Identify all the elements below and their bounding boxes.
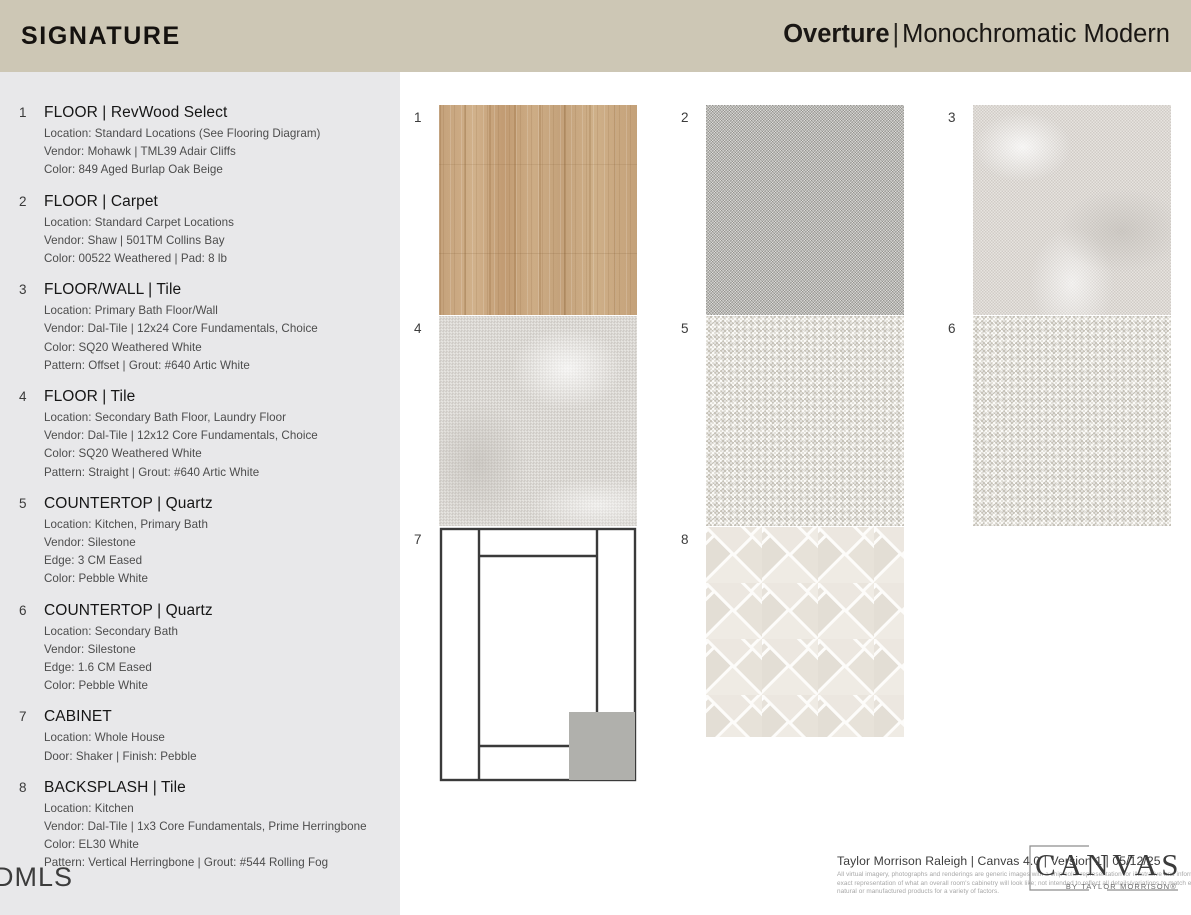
spec-detail-line: Location: Standard Locations (See Floori… <box>44 125 400 143</box>
swatch-number: 6 <box>948 321 956 336</box>
spec-detail-line: Edge: 1.6 CM Eased <box>44 659 400 677</box>
spec-detail-line: Location: Secondary Bath Floor, Laundry … <box>44 409 400 427</box>
logo-tagline: BY TAYLOR MORRISON® <box>1066 882 1177 891</box>
spec-detail-line: Color: SQ20 Weathered White <box>44 445 400 463</box>
spec-detail-line: Location: Standard Carpet Locations <box>44 214 400 232</box>
spec-list: 1 FLOOR | RevWood Select Location: Stand… <box>0 104 400 886</box>
spec-title: BACKSPLASH | Tile <box>44 779 400 797</box>
swatch-item-1: 1 <box>439 105 639 315</box>
spec-detail-line: Pattern: Straight | Grout: #640 Artic Wh… <box>44 464 400 482</box>
swatch-number: 1 <box>414 110 422 125</box>
spec-title: FLOOR | RevWood Select <box>44 104 400 122</box>
swatch-item-6: 6 <box>973 316 1173 526</box>
swatch-image-tile-12x12 <box>439 316 637 526</box>
swatch-row: 4 5 6 <box>425 316 1170 492</box>
spec-title: FLOOR | Tile <box>44 388 400 406</box>
swatch-image-quartz-primary <box>706 316 904 526</box>
swatch-row: 7 8 <box>425 527 1170 782</box>
swatch-image-quartz-secondary <box>973 316 1171 526</box>
quartz-texture <box>973 316 1171 526</box>
swatch-number: 7 <box>414 532 422 547</box>
swatch-image-carpet <box>706 105 904 315</box>
swatch-item-3: 3 <box>973 105 1173 315</box>
spec-number: 6 <box>19 603 27 618</box>
spec-number: 4 <box>19 389 27 404</box>
swatch-image-tile-12x24 <box>973 105 1171 315</box>
spec-number: 7 <box>19 709 27 724</box>
dmls-watermark: DMLS <box>0 862 73 893</box>
herringbone-texture <box>706 527 904 737</box>
spec-detail-line: Vendor: Dal-Tile | 12x12 Core Fundamenta… <box>44 427 400 445</box>
swatch-item-2: 2 <box>706 105 906 315</box>
swatch-image-revwood <box>439 105 637 315</box>
spec-detail-line: Color: Pebble White <box>44 677 400 695</box>
spec-sidebar: 1 FLOOR | RevWood Select Location: Stand… <box>0 72 400 915</box>
stone-tile-texture <box>439 316 637 526</box>
spec-detail-line: Vendor: Dal-Tile | 12x24 Core Fundamenta… <box>44 320 400 338</box>
title-separator: | <box>893 20 900 48</box>
collection-title: Overture|Monochromatic Modern <box>783 20 1170 49</box>
collection-name: Overture <box>783 20 889 48</box>
spec-item: 4 FLOOR | Tile Location: Secondary Bath … <box>0 388 400 482</box>
spec-detail-line: Pattern: Vertical Herringbone | Grout: #… <box>44 854 400 872</box>
spec-detail-line: Color: Pebble White <box>44 570 400 588</box>
spec-title: COUNTERTOP | Quartz <box>44 602 400 620</box>
swatch-grid: 1 2 3 4 <box>425 105 1170 817</box>
spec-title: COUNTERTOP | Quartz <box>44 495 400 513</box>
page-header: SIGNATURE Overture|Monochromatic Modern <box>0 0 1191 72</box>
spec-number: 1 <box>19 105 27 120</box>
spec-detail-line: Vendor: Silestone <box>44 534 400 552</box>
spec-detail-line: Vendor: Shaw | 501TM Collins Bay <box>44 232 400 250</box>
swatch-item-5: 5 <box>706 316 906 526</box>
swatch-panel: 1 2 3 4 <box>400 72 1191 915</box>
cabinet-door-diagram <box>439 527 637 782</box>
spec-detail-line: Edge: 3 CM Eased <box>44 552 400 570</box>
swatch-row: 1 2 3 <box>425 105 1170 281</box>
herringbone-pattern-svg <box>706 527 904 737</box>
swatch-image-herringbone <box>706 527 904 737</box>
cabinet-door-svg <box>439 527 637 782</box>
collection-style: Monochromatic Modern <box>902 20 1170 48</box>
spec-title: CABINET <box>44 708 400 726</box>
spec-detail-line: Vendor: Silestone <box>44 641 400 659</box>
canvas-logo: CANVAS BY TAYLOR MORRISON® <box>1021 841 1181 893</box>
spec-detail-line: Location: Whole House <box>44 729 400 747</box>
swatch-number: 5 <box>681 321 689 336</box>
spec-detail-line: Color: SQ20 Weathered White <box>44 339 400 357</box>
stone-tile-texture <box>973 105 1171 315</box>
swatch-item-8: 8 <box>706 527 906 737</box>
spec-detail-line: Location: Primary Bath Floor/Wall <box>44 302 400 320</box>
swatch-item-4: 4 <box>439 316 639 526</box>
spec-detail-line: Color: EL30 White <box>44 836 400 854</box>
quartz-texture <box>706 316 904 526</box>
spec-item: 8 BACKSPLASH | Tile Location: Kitchen Ve… <box>0 779 400 873</box>
carpet-texture <box>706 105 904 315</box>
spec-detail-line: Vendor: Mohawk | TML39 Adair Cliffs <box>44 143 400 161</box>
spec-number: 3 <box>19 282 27 297</box>
spec-detail-line: Vendor: Dal-Tile | 1x3 Core Fundamentals… <box>44 818 400 836</box>
spec-detail-line: Color: 00522 Weathered | Pad: 8 lb <box>44 250 400 268</box>
swatch-number: 4 <box>414 321 422 336</box>
spec-title: FLOOR/WALL | Tile <box>44 281 400 299</box>
spec-item: 3 FLOOR/WALL | Tile Location: Primary Ba… <box>0 281 400 375</box>
spec-detail-line: Color: 849 Aged Burlap Oak Beige <box>44 161 400 179</box>
brand-title: SIGNATURE <box>21 22 181 51</box>
spec-number: 2 <box>19 194 27 209</box>
logo-wordmark: CANVAS <box>1035 847 1182 883</box>
spec-item: 2 FLOOR | Carpet Location: Standard Carp… <box>0 193 400 269</box>
spec-detail-line: Pattern: Offset | Grout: #640 Artic Whit… <box>44 357 400 375</box>
swatch-number: 8 <box>681 532 689 547</box>
spec-title: FLOOR | Carpet <box>44 193 400 211</box>
swatch-item-7: 7 <box>439 527 639 737</box>
spec-detail-line: Door: Shaker | Finish: Pebble <box>44 748 400 766</box>
swatch-number: 3 <box>948 110 956 125</box>
spec-item: 1 FLOOR | RevWood Select Location: Stand… <box>0 104 400 180</box>
spec-item: 7 CABINET Location: Whole House Door: Sh… <box>0 708 400 765</box>
spec-number: 5 <box>19 496 27 511</box>
spec-detail-line: Location: Secondary Bath <box>44 623 400 641</box>
swatch-number: 2 <box>681 110 689 125</box>
spec-number: 8 <box>19 780 27 795</box>
wood-texture <box>439 105 637 315</box>
spec-detail-line: Location: Kitchen, Primary Bath <box>44 516 400 534</box>
spec-detail-line: Location: Kitchen <box>44 800 400 818</box>
spec-item: 6 COUNTERTOP | Quartz Location: Secondar… <box>0 602 400 696</box>
spec-item: 5 COUNTERTOP | Quartz Location: Kitchen,… <box>0 495 400 589</box>
